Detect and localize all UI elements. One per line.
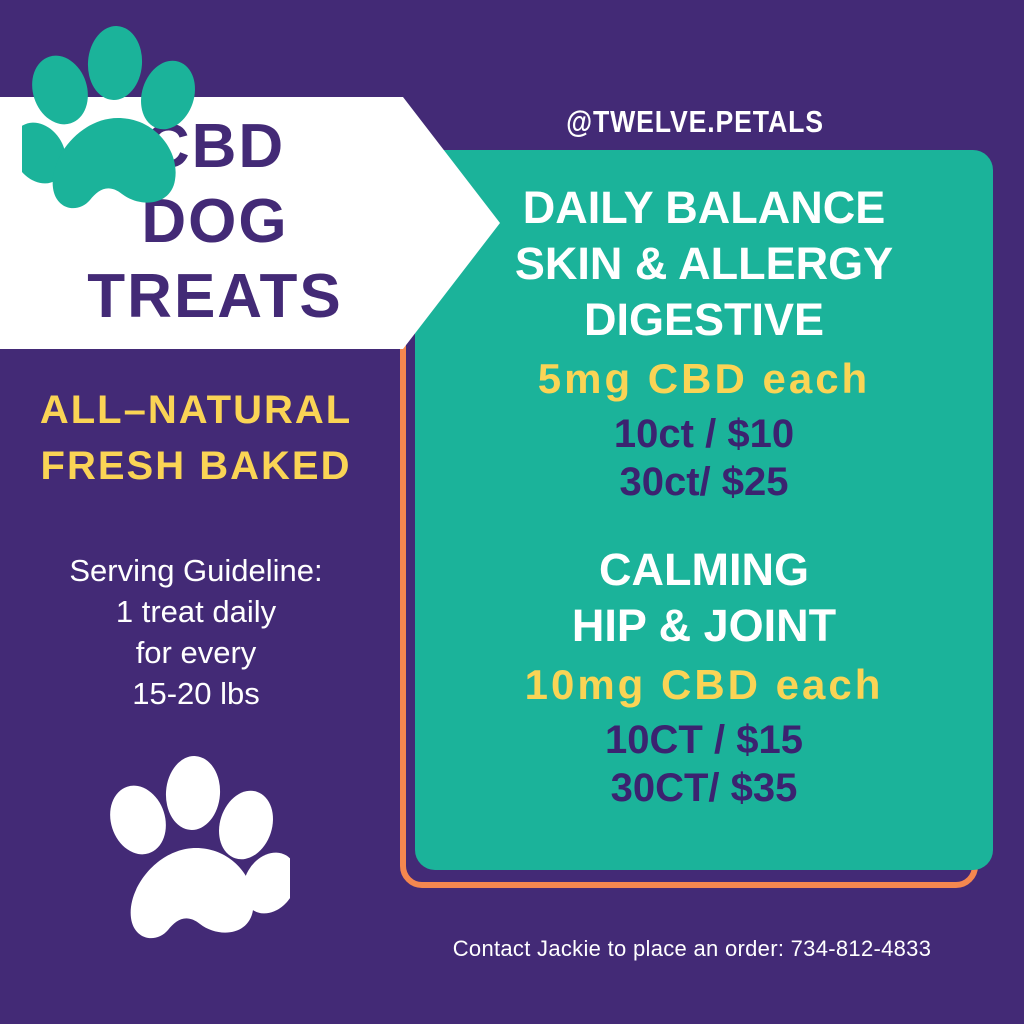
price-line: 30CT/ $35 xyxy=(439,764,969,812)
headline-block: ALL–NATURAL FRESH BAKED xyxy=(0,382,392,494)
serving-line: 15-20 lbs xyxy=(0,673,392,714)
price-line: 30ct/ $25 xyxy=(439,458,969,506)
price-line: 10CT / $15 xyxy=(439,716,969,764)
price-line: 10ct / $10 xyxy=(439,410,969,458)
product-group-1: DAILY BALANCE SKIN & ALLERGY DIGESTIVE 5… xyxy=(439,180,969,506)
headline-line: FRESH BAKED xyxy=(0,438,392,494)
product-name: HIP & JOINT xyxy=(439,598,969,654)
title-line: TREATS xyxy=(0,259,430,334)
product-name: SKIN & ALLERGY xyxy=(439,236,969,292)
product-name: CALMING xyxy=(439,542,969,598)
instagram-handle: @TWELVE.PETALS xyxy=(519,104,872,140)
paw-print-svg xyxy=(100,748,290,948)
paw-print-icon xyxy=(100,748,290,948)
serving-line: for every xyxy=(0,632,392,673)
poster-canvas: DAILY BALANCE SKIN & ALLERGY DIGESTIVE 5… xyxy=(0,0,1024,1024)
serving-line: Serving Guideline: xyxy=(0,550,392,591)
product-name: DIGESTIVE xyxy=(439,292,969,348)
paw-print-icon xyxy=(22,18,212,218)
product-panel: DAILY BALANCE SKIN & ALLERGY DIGESTIVE 5… xyxy=(415,150,993,870)
product-name: DAILY BALANCE xyxy=(439,180,969,236)
dose-label: 10mg CBD each xyxy=(439,654,969,716)
group-spacer xyxy=(439,506,969,542)
paw-print-svg xyxy=(22,18,212,218)
headline-line: ALL–NATURAL xyxy=(0,382,392,438)
product-group-2: CALMING HIP & JOINT 10mg CBD each 10CT /… xyxy=(439,542,969,812)
dose-label: 5mg CBD each xyxy=(439,348,969,410)
serving-guideline-block: Serving Guideline: 1 treat daily for eve… xyxy=(0,550,392,714)
contact-footer: Contact Jackie to place an order: 734-81… xyxy=(392,936,992,962)
serving-line: 1 treat daily xyxy=(0,591,392,632)
